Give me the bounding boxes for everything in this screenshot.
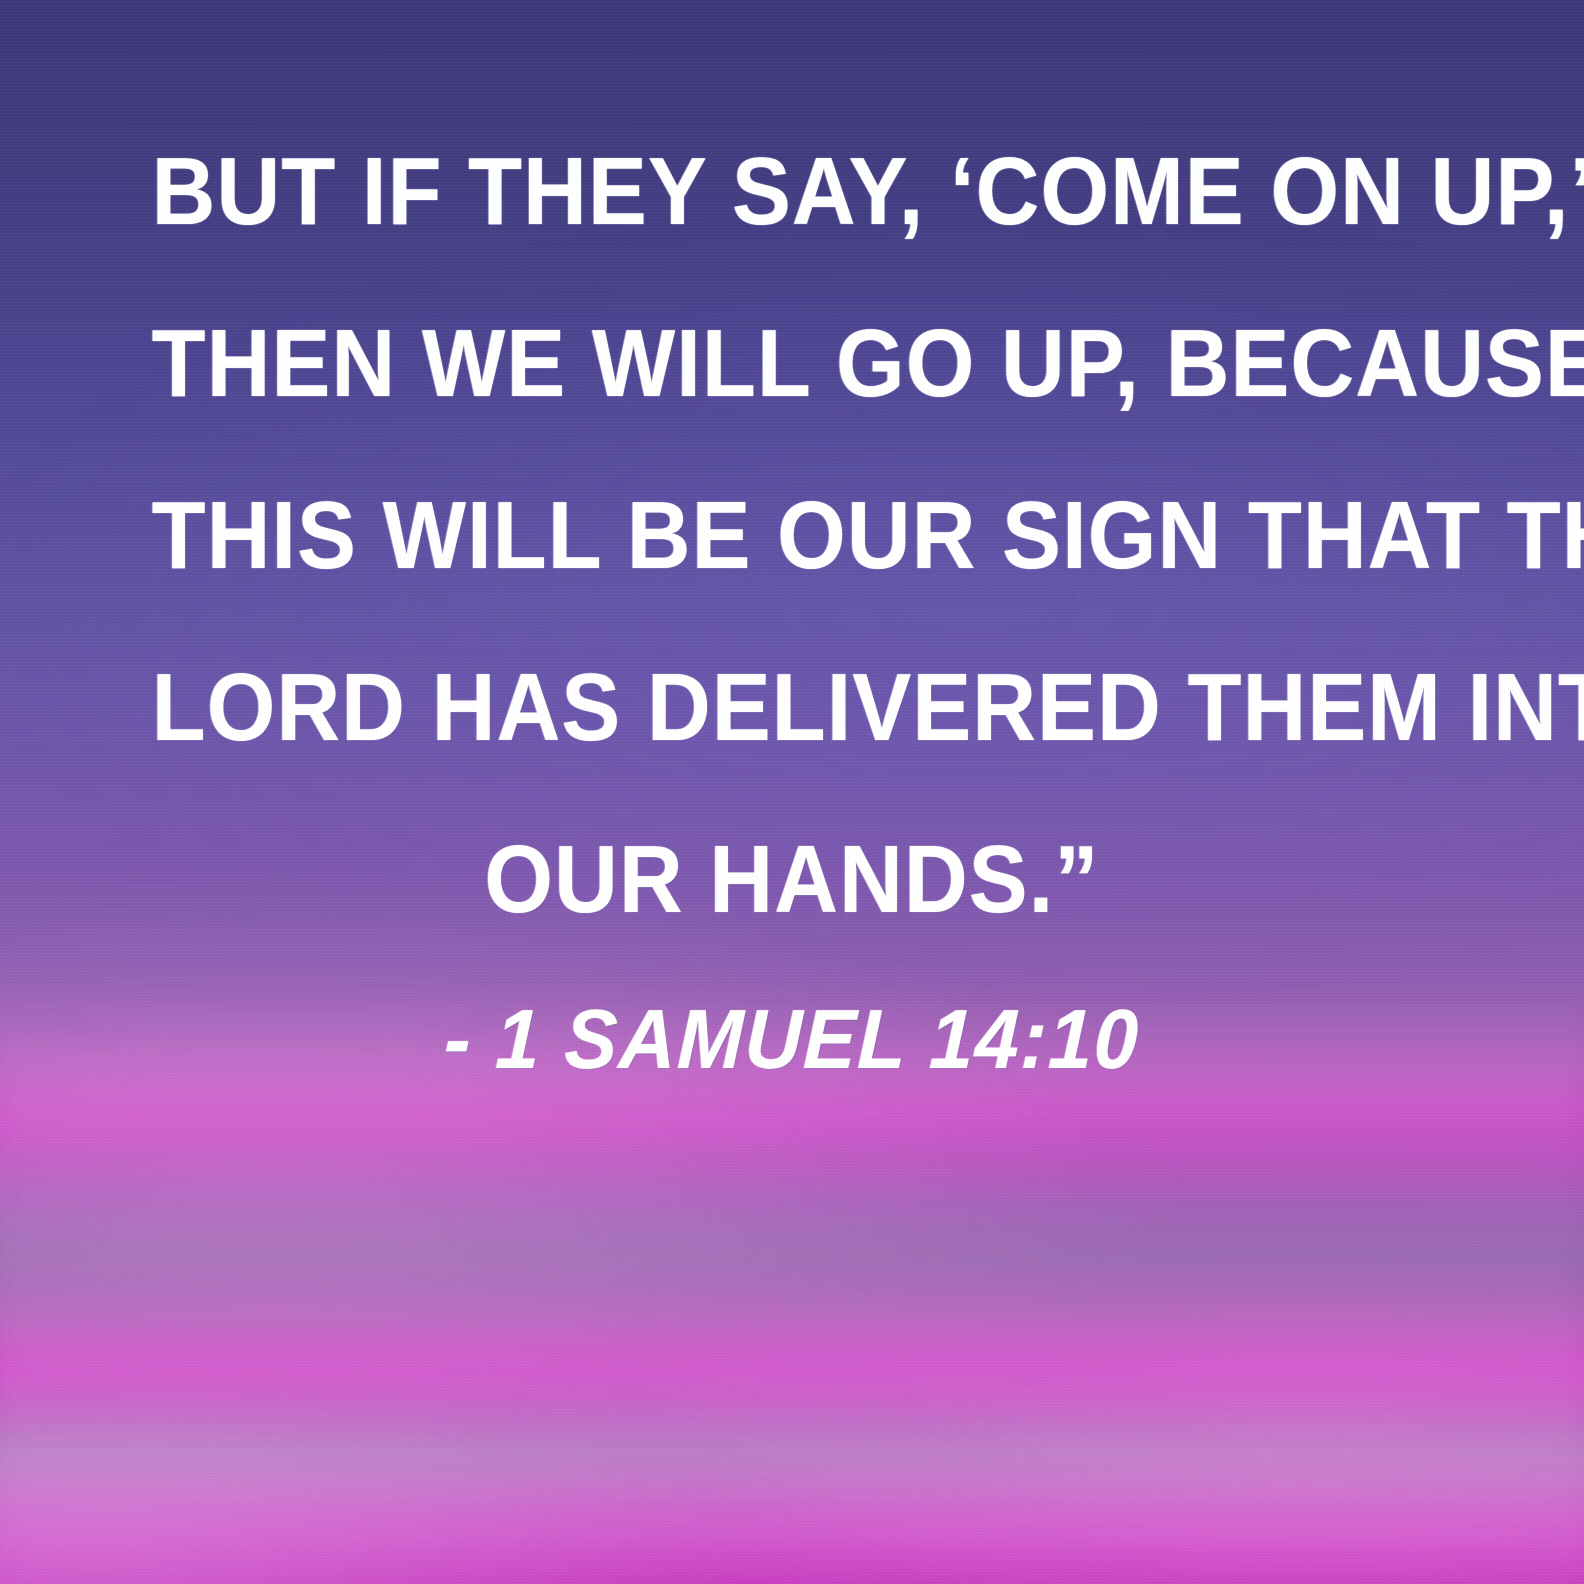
verse-line-4: LORD has delivered them into (152, 634, 1433, 782)
verse-line-5: our hands.” (152, 806, 1433, 954)
verse-line-3: this will be our sign that the (152, 462, 1433, 610)
verse-attribution: - 1 Samuel 14:10 (136, 984, 1448, 1094)
verse-text-block: But if they say, ‘Come on up,’ then we w… (0, 118, 1584, 1094)
verse-card: But if they say, ‘Come on up,’ then we w… (0, 0, 1584, 1584)
verse-line-1: But if they say, ‘Come on up,’ (152, 118, 1433, 266)
verse-line-2: then we will go up, because (152, 290, 1433, 438)
